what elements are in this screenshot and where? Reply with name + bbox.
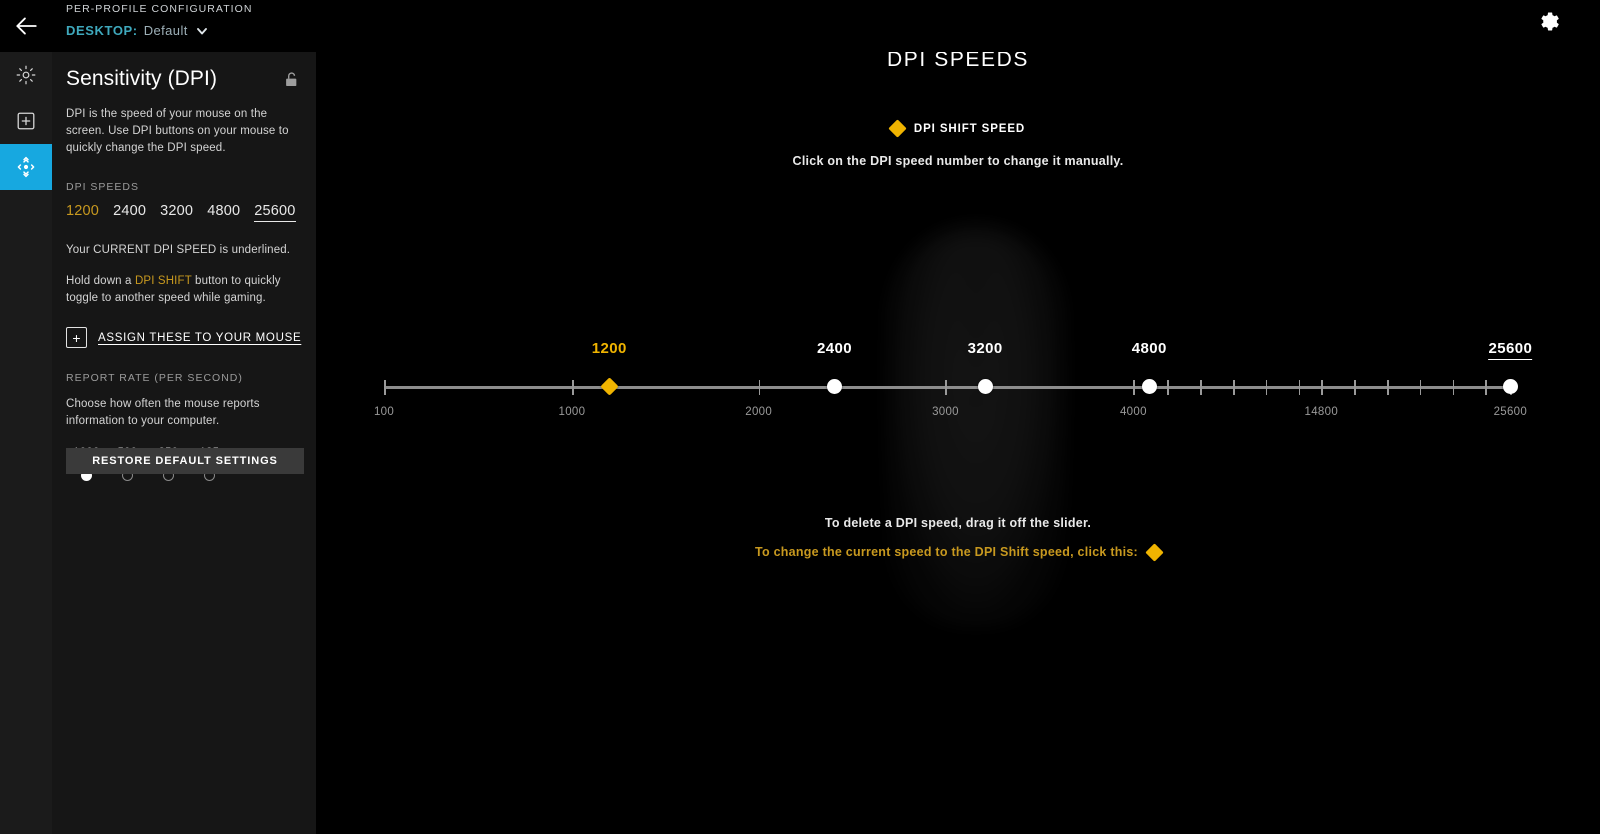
panel-description: DPI is the speed of your mouse on the sc… xyxy=(66,106,294,157)
slider-tick-minor xyxy=(1233,380,1235,395)
slider-value-2400[interactable]: 2400 xyxy=(817,340,852,359)
settings-panel: Sensitivity (DPI) DPI is the speed of yo… xyxy=(52,52,316,834)
slider-tick-minor xyxy=(1485,380,1487,395)
sidebar-item-lighting[interactable] xyxy=(0,52,52,98)
dpi-shift-legend-label: DPI SHIFT SPEED xyxy=(914,123,1025,135)
note-dpi-shift: Hold down a DPI SHIFT button to quickly … xyxy=(66,273,294,307)
report-rate-kicker: REPORT RATE (PER SECOND) xyxy=(66,372,302,384)
assign-to-mouse-button[interactable]: + ASSIGN THESE TO YOUR MOUSE xyxy=(66,327,302,348)
profile-block: PER-PROFILE CONFIGURATION DESKTOP: Defau… xyxy=(66,2,252,38)
report-rate-description: Choose how often the mouse reports infor… xyxy=(66,396,276,430)
dpi-chip-25600[interactable]: 25600 xyxy=(254,203,295,222)
dpi-slider[interactable]: 10010002000300040001480025600 1200240032… xyxy=(384,340,1516,440)
profile-type-label: DESKTOP: xyxy=(66,23,138,38)
unlocked-padlock-icon[interactable] xyxy=(285,72,298,87)
dpi-shift-legend: DPI SHIFT SPEED xyxy=(316,122,1600,135)
dpi-sensitivity-icon xyxy=(14,155,38,179)
slider-axis-label: 2000 xyxy=(745,406,772,418)
slider-handle-4800[interactable] xyxy=(1142,379,1157,394)
slider-value-25600[interactable]: 25600 xyxy=(1488,340,1532,360)
hint-change-to-shift-label: To change the current speed to the DPI S… xyxy=(755,545,1138,559)
slider-axis-label: 1000 xyxy=(559,406,586,418)
hint-change-to-shift: To change the current speed to the DPI S… xyxy=(316,545,1600,559)
assign-to-mouse-label: ASSIGN THESE TO YOUR MOUSE xyxy=(98,332,301,344)
hint-delete-speed: To delete a DPI speed, drag it off the s… xyxy=(316,516,1600,530)
slider-tick-minor xyxy=(1387,380,1389,395)
note-shift-keyword: DPI SHIFT xyxy=(135,275,192,287)
slider-track[interactable] xyxy=(384,386,1516,389)
slider-tick-minor xyxy=(1266,380,1268,395)
slider-axis-label: 3000 xyxy=(932,406,959,418)
page-title: Sensitivity (DPI) xyxy=(66,66,217,92)
gear-icon[interactable] xyxy=(1536,8,1562,34)
note-current-speed: Your CURRENT DPI SPEED is underlined. xyxy=(66,242,294,259)
slider-tick-minor xyxy=(1299,380,1301,395)
stage-title: DPI SPEEDS xyxy=(316,52,1600,72)
profile-name-value: Default xyxy=(144,23,188,38)
brightness-icon xyxy=(15,64,37,86)
slider-tick-minor xyxy=(1200,380,1202,395)
slider-value-1200[interactable]: 1200 xyxy=(592,340,627,359)
slider-tick xyxy=(759,380,761,395)
slider-handle-3200[interactable] xyxy=(978,379,993,394)
slider-tick xyxy=(945,380,947,395)
panel-header: Sensitivity (DPI) xyxy=(66,66,302,92)
gold-diamond-icon xyxy=(888,119,906,137)
per-profile-kicker: PER-PROFILE CONFIGURATION xyxy=(66,2,252,17)
app-root: PER-PROFILE CONFIGURATION DESKTOP: Defau… xyxy=(0,0,1600,834)
slider-axis-label: 14800 xyxy=(1305,406,1338,418)
slider-axis-label: 25600 xyxy=(1494,406,1527,418)
main-stage: DPI SPEEDS DPI SHIFT SPEED Click on the … xyxy=(316,52,1600,834)
sidebar-item-sensitivity[interactable] xyxy=(0,144,52,190)
dpi-chip-1200[interactable]: 1200 xyxy=(66,203,99,221)
dpi-chip-3200[interactable]: 3200 xyxy=(160,203,193,221)
slider-tick-minor xyxy=(1420,380,1422,395)
sidebar-item-assignments[interactable] xyxy=(0,98,52,144)
slider-tick xyxy=(1321,380,1323,395)
dpi-chip-4800[interactable]: 4800 xyxy=(207,203,240,221)
restore-default-settings-button[interactable]: RESTORE DEFAULT SETTINGS xyxy=(66,448,304,474)
gold-diamond-icon[interactable] xyxy=(1145,543,1163,561)
slider-tick-minor xyxy=(1167,380,1169,395)
chevron-down-icon[interactable] xyxy=(196,25,208,37)
back-arrow-icon[interactable] xyxy=(10,10,42,42)
plus-box-icon: + xyxy=(66,327,87,348)
icon-rail xyxy=(0,52,52,834)
profile-selector[interactable]: DESKTOP: Default xyxy=(66,23,252,38)
slider-tick xyxy=(1133,380,1135,395)
dpi-speeds-kicker: DPI SPEEDS xyxy=(66,181,302,193)
note-shift-pre: Hold down a xyxy=(66,275,135,287)
dpi-chip-2400[interactable]: 2400 xyxy=(113,203,146,221)
top-bar: PER-PROFILE CONFIGURATION DESKTOP: Defau… xyxy=(0,0,1600,52)
slider-tick-minor xyxy=(1354,380,1356,395)
slider-axis-label: 100 xyxy=(374,406,394,418)
slider-value-3200[interactable]: 3200 xyxy=(968,340,1003,359)
slider-handle-1200[interactable] xyxy=(600,377,618,395)
slider-handle-2400[interactable] xyxy=(827,379,842,394)
slider-value-4800[interactable]: 4800 xyxy=(1132,340,1167,359)
slider-tick xyxy=(572,380,574,395)
plus-box-icon xyxy=(15,110,37,132)
slider-axis-label: 4000 xyxy=(1120,406,1147,418)
dpi-speeds-list: 1200 2400 3200 4800 25600 xyxy=(66,203,302,222)
slider-handle-25600[interactable] xyxy=(1503,379,1518,394)
hint-click-number: Click on the DPI speed number to change … xyxy=(316,154,1600,168)
slider-tick xyxy=(384,380,386,395)
slider-tick-minor xyxy=(1453,380,1455,395)
